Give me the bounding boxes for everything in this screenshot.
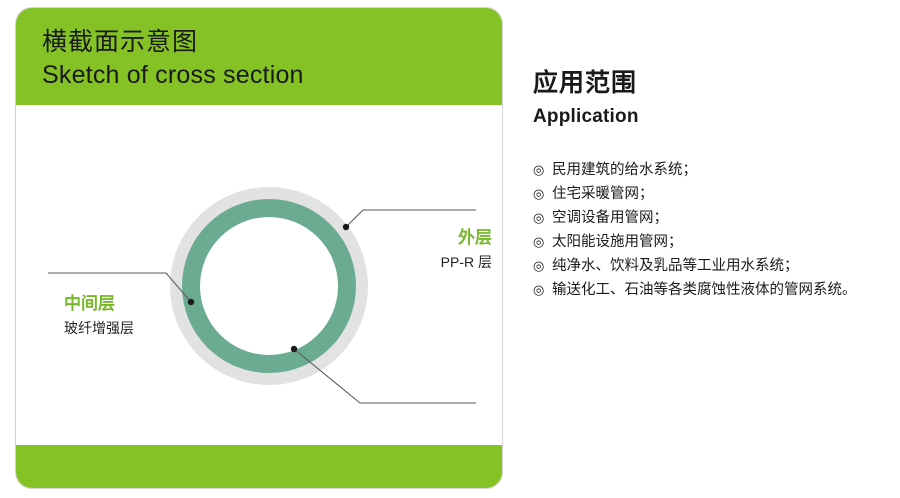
application-list-item-text: 住宅采暖管网； <box>552 182 654 206</box>
card-title-en: Sketch of cross section <box>42 59 502 92</box>
cross-section-card: 横截面示意图 Sketch of cross section <box>16 8 502 488</box>
application-list-item: ◎民用建筑的给水系统； <box>533 158 893 182</box>
bullet-circle-dot-icon: ◎ <box>533 230 548 254</box>
bullet-circle-dot-icon: ◎ <box>533 278 548 302</box>
application-list-item: ◎住宅采暖管网； <box>533 182 893 206</box>
application-list-item: ◎纯净水、饮料及乳品等工业用水系统； <box>533 254 893 278</box>
application-list-item: ◎空调设备用管网； <box>533 206 893 230</box>
card-title-cn: 横截面示意图 <box>42 26 502 59</box>
card-body: 外层 PP-R 层 中间层 玻纤增强层 内层 PP-R 层 <box>16 105 502 445</box>
pipe-cross-section-diagram <box>16 105 502 445</box>
application-title-cn: 应用范围 <box>533 68 637 98</box>
bullet-circle-dot-icon: ◎ <box>533 206 548 230</box>
label-middle-layer-subtitle: 玻纤增强层 <box>64 315 204 338</box>
bullet-circle-dot-icon: ◎ <box>533 254 548 278</box>
application-title-en: Application <box>533 105 639 129</box>
application-list: ◎民用建筑的给水系统；◎住宅采暖管网；◎空调设备用管网；◎太阳能设施用管网；◎纯… <box>533 158 893 302</box>
application-list-item-text: 输送化工、石油等各类腐蚀性液体的管网系统。 <box>552 278 857 302</box>
label-outer-layer: 外层 PP-R 层 <box>376 227 492 272</box>
application-list-item-text: 纯净水、饮料及乳品等工业用水系统； <box>552 254 799 278</box>
inner-layer-ring <box>200 217 338 355</box>
card-header: 横截面示意图 Sketch of cross section <box>16 8 502 105</box>
label-middle-layer-title: 中间层 <box>64 293 204 315</box>
application-list-item: ◎太阳能设施用管网； <box>533 230 893 254</box>
bullet-circle-dot-icon: ◎ <box>533 182 548 206</box>
label-outer-layer-subtitle: PP-R 层 <box>376 249 492 272</box>
label-outer-layer-title: 外层 <box>376 227 492 249</box>
label-middle-layer: 中间层 玻纤增强层 <box>64 293 204 338</box>
application-panel: 应用范围 Application ◎民用建筑的给水系统；◎住宅采暖管网；◎空调设… <box>533 0 893 498</box>
bullet-circle-dot-icon: ◎ <box>533 158 548 182</box>
application-list-item-text: 民用建筑的给水系统； <box>552 158 697 182</box>
application-list-item-text: 空调设备用管网； <box>552 206 668 230</box>
application-list-item: ◎输送化工、石油等各类腐蚀性液体的管网系统。 <box>533 278 893 302</box>
card-footer-bar <box>16 445 502 488</box>
application-list-item-text: 太阳能设施用管网； <box>552 230 683 254</box>
